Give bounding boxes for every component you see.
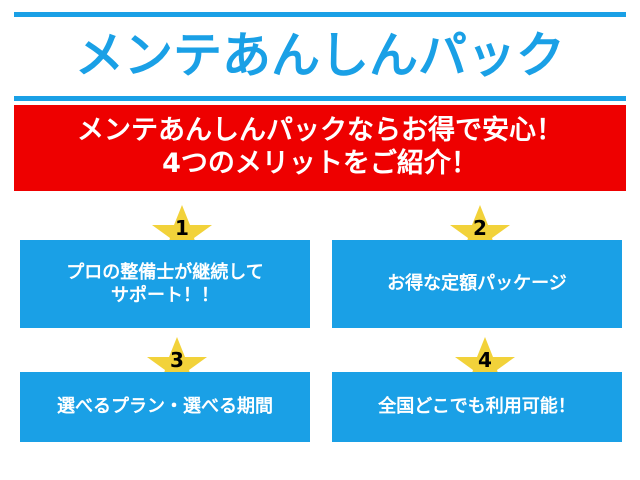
page-title: メンテあんしんパック: [0, 18, 640, 92]
merit-card-3: 選べるプラン・選べる期間: [20, 372, 310, 442]
star-badge-number-3: 3: [146, 350, 208, 370]
merit-card-4: 全国どこでも利用可能！: [332, 372, 622, 442]
merit-card-2-text: お得な定額パッケージ: [387, 272, 567, 295]
headline-line-1: メンテあんしんパックならお得で安心！: [77, 115, 563, 148]
merit-card-4-text: 全国どこでも利用可能！: [378, 395, 575, 418]
promo-poster: メンテあんしんパック メンテあんしんパックならお得で安心！ 4つのメリットをご紹…: [0, 0, 640, 480]
star-badge-number-1: 1: [151, 218, 213, 238]
headline-line-2: 4つのメリットをご紹介！: [162, 148, 478, 181]
headline-banner: メンテあんしんパックならお得で安心！ 4つのメリットをご紹介！: [14, 105, 626, 191]
star-badge-number-2: 2: [449, 218, 511, 238]
divider-top: [14, 12, 626, 17]
merit-card-3-text: 選べるプラン・選べる期間: [57, 395, 273, 418]
merit-card-2: お得な定額パッケージ: [332, 240, 622, 328]
star-badge-number-4: 4: [454, 350, 516, 370]
merit-card-1-text: プロの整備士が継続して サポート！！: [66, 261, 263, 308]
merit-card-1: プロの整備士が継続して サポート！！: [20, 240, 310, 328]
divider-bottom: [14, 96, 626, 101]
